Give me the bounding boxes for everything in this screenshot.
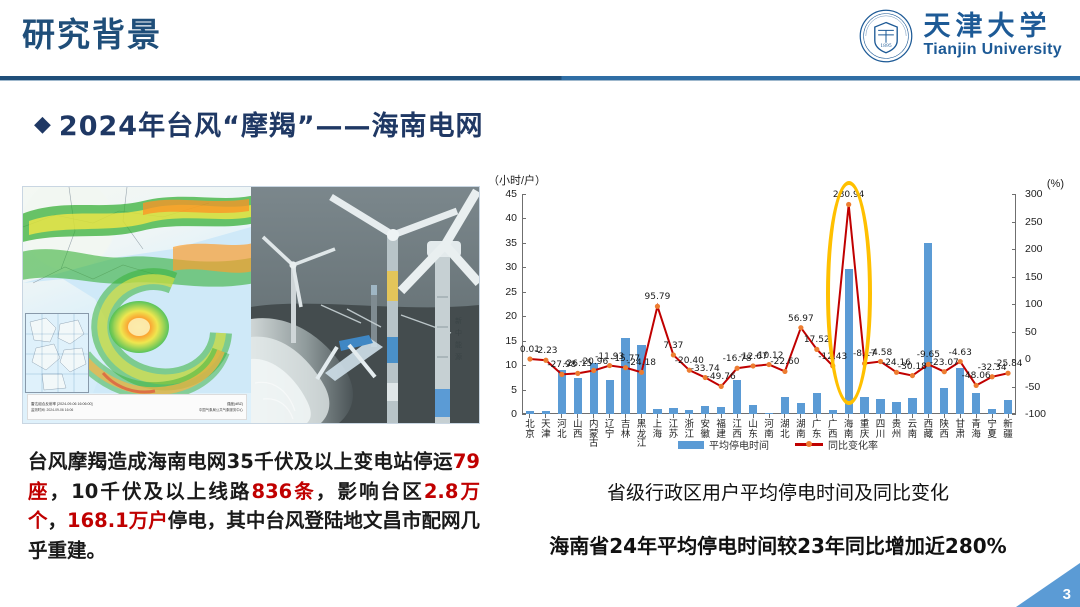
legend-bar-swatch (678, 441, 704, 449)
page-number-corner: 3 (1006, 563, 1080, 607)
section-heading: ◆ 2024年台风“摩羯”——海南电网 (34, 104, 484, 143)
trend-marker (798, 325, 803, 330)
bottom-note: 海南省24年平均停电时间较23年同比增加近280% (486, 530, 1070, 559)
x-tickmark (944, 414, 945, 418)
trend-marker (559, 372, 564, 377)
left-caption-paragraph: 台风摩羯造成海南电网35千伏及以上变电站停运79座，10千伏及以上线路836条，… (28, 447, 480, 566)
x-tickmark (689, 414, 690, 418)
image-row: 雷达组合反射率 [2024-09-06 16:06:00] 强度(dBZ) 监测… (22, 186, 480, 424)
svg-text:能: 能 (455, 340, 462, 349)
y-tickmark-left (522, 414, 526, 415)
legend-bar-label: 平均停电时间 (709, 437, 769, 452)
diamond-bullet-icon: ◆ (34, 113, 51, 135)
caption-text: 台风摩羯造成海南电网35千伏及以上变电站停运 (28, 450, 453, 473)
header-divider-thin (0, 80, 1080, 81)
x-tickmark (896, 414, 897, 418)
x-tickmark (816, 414, 817, 418)
x-tickmark (737, 414, 738, 418)
wind-farm-graphic: 新中 能源 (251, 187, 479, 423)
svg-text:1895: 1895 (880, 43, 892, 49)
x-tickmark (832, 414, 833, 418)
trend-marker (639, 370, 644, 375)
logo-name-cn: 天津大学 (924, 13, 1052, 41)
y-axis-tick-right: 100 (1025, 298, 1043, 310)
wind-turbine-photo: 新中 能源 (251, 187, 479, 423)
y-axis-tick-right: 0 (1025, 353, 1031, 365)
trend-marker (735, 366, 740, 371)
x-tickmark (800, 414, 801, 418)
x-tickmark (609, 414, 610, 418)
x-tickmark (880, 414, 881, 418)
data-label: 17.52 (804, 335, 830, 345)
trend-marker (910, 373, 915, 378)
x-tickmark (529, 414, 530, 418)
x-tickmark (848, 414, 849, 418)
y-axis-tick-left: 45 (505, 188, 517, 200)
y-axis-tick-right: 250 (1025, 216, 1043, 228)
x-tickmark (912, 414, 913, 418)
legend-line-label: 同比变化率 (828, 437, 878, 452)
radar-footer-left: 监测时间: 2024-09-06 16:06 (31, 407, 73, 412)
data-label: -23.07 (930, 358, 959, 368)
trend-marker (974, 383, 979, 388)
y-axis-tick-right: 200 (1025, 243, 1043, 255)
data-label: -24.18 (627, 358, 656, 368)
trend-line-series (522, 194, 1016, 414)
trend-marker (719, 384, 724, 389)
data-label: -4.63 (949, 348, 972, 358)
trend-marker (575, 371, 580, 376)
chart-legend: 平均停电时间 同比变化率 (486, 437, 1070, 452)
data-label: -30.18 (898, 362, 927, 372)
chart-caption: 省级行政区用户平均停电时间及同比变化 (486, 478, 1070, 505)
y-axis-tick-left: 30 (505, 261, 517, 273)
y-tickmark-right (1012, 414, 1016, 415)
y-axis-tick-right: 50 (1025, 326, 1037, 338)
page-number: 3 (1063, 586, 1071, 603)
x-tickmark (721, 414, 722, 418)
caption-text: ， (48, 509, 68, 532)
x-tickmark (928, 414, 929, 418)
x-tickmark (593, 414, 594, 418)
trend-marker (846, 202, 851, 207)
data-label: -2.23 (534, 346, 557, 356)
data-label: 95.79 (645, 292, 671, 302)
y-axis-tick-left: 40 (505, 212, 517, 224)
y-axis-tick-left: 0 (511, 408, 517, 420)
trend-marker (942, 369, 947, 374)
data-label: -4.58 (869, 348, 892, 358)
radar-colorbar-legend: 雷达组合反射率 [2024-09-06 16:06:00] 强度(dBZ) 监测… (27, 394, 247, 420)
typhoon-radar-image: 雷达组合反射率 [2024-09-06 16:06:00] 强度(dBZ) 监测… (23, 187, 251, 423)
trend-marker (655, 304, 660, 309)
chart-left-unit: （小时/户） (488, 172, 546, 188)
x-tickmark (673, 414, 674, 418)
data-label: -12.43 (818, 352, 847, 362)
y-axis-tick-right: 300 (1025, 188, 1043, 200)
x-tickmark (960, 414, 961, 418)
x-tickmark (625, 414, 626, 418)
legend-line-swatch (795, 443, 823, 446)
x-tickmark (753, 414, 754, 418)
trend-marker (830, 363, 835, 368)
x-tickmark (705, 414, 706, 418)
svg-text:源: 源 (455, 352, 462, 361)
x-tickmark (641, 414, 642, 418)
y-axis-tick-left: 5 (511, 384, 517, 396)
y-axis-tick-left: 25 (505, 286, 517, 298)
chart-plot-area: 051015202530354045-100-50050100150200250… (522, 194, 1016, 414)
y-axis-tick-left: 20 (505, 310, 517, 322)
x-tickmark (992, 414, 993, 418)
data-label: 280.94 (833, 190, 865, 200)
page-title: 研究背景 (22, 8, 162, 56)
data-label: -22.60 (770, 357, 799, 367)
caption-highlight: 836条 (252, 480, 316, 503)
trend-marker (782, 369, 787, 374)
trend-marker (527, 356, 532, 361)
data-label: 56.97 (788, 314, 814, 324)
data-label: -48.06 (962, 371, 991, 381)
x-tickmark (864, 414, 865, 418)
svg-text:新: 新 (455, 316, 462, 325)
x-tickmark (784, 414, 785, 418)
tianjin-university-seal-icon: 1895 (858, 8, 914, 64)
slide: 研究背景 1895 天津大学 Tianjin University ◆ 2024… (0, 0, 1080, 607)
caption-text: ，10千伏及以上线路 (50, 480, 252, 503)
radar-inset-map (25, 313, 89, 393)
svg-text:中: 中 (455, 328, 462, 337)
x-tickmark (561, 414, 562, 418)
section-heading-label: 2024年台风“摩羯”——海南电网 (59, 104, 484, 143)
x-tickmark (657, 414, 658, 418)
y-axis-tick-left: 15 (505, 335, 517, 347)
x-tickmark (545, 414, 546, 418)
x-tickmark (1008, 414, 1009, 418)
data-label: -49.76 (707, 372, 736, 382)
y-axis-tick-left: 35 (505, 237, 517, 249)
data-label: -25.84 (994, 359, 1023, 369)
caption-highlight: 168.1万户 (67, 509, 168, 532)
data-label: 7.37 (663, 341, 683, 351)
legend-item-line: 同比变化率 (795, 437, 878, 452)
outage-chart: （小时/户） (%) 051015202530354045-100-500501… (486, 172, 1070, 460)
x-tickmark (577, 414, 578, 418)
y-axis-tick-left: 10 (505, 359, 517, 371)
x-tickmark (769, 414, 770, 418)
x-tickmark (976, 414, 977, 418)
trend-marker (862, 361, 867, 366)
caption-text: ，影响台区 (316, 480, 424, 503)
chart-right-unit: (%) (1047, 178, 1064, 190)
university-logo: 1895 天津大学 Tianjin University (858, 8, 1062, 64)
logo-text: 天津大学 Tianjin University (924, 13, 1062, 59)
y-axis-tick-right: 150 (1025, 271, 1043, 283)
y-axis-tick-right: -100 (1025, 408, 1046, 420)
logo-name-en: Tianjin University (924, 41, 1062, 59)
radar-footer-right: 中国气象局公共气象服务中心 (199, 407, 243, 412)
legend-item-bar: 平均停电时间 (678, 437, 769, 452)
y-axis-tick-right: -50 (1025, 381, 1040, 393)
